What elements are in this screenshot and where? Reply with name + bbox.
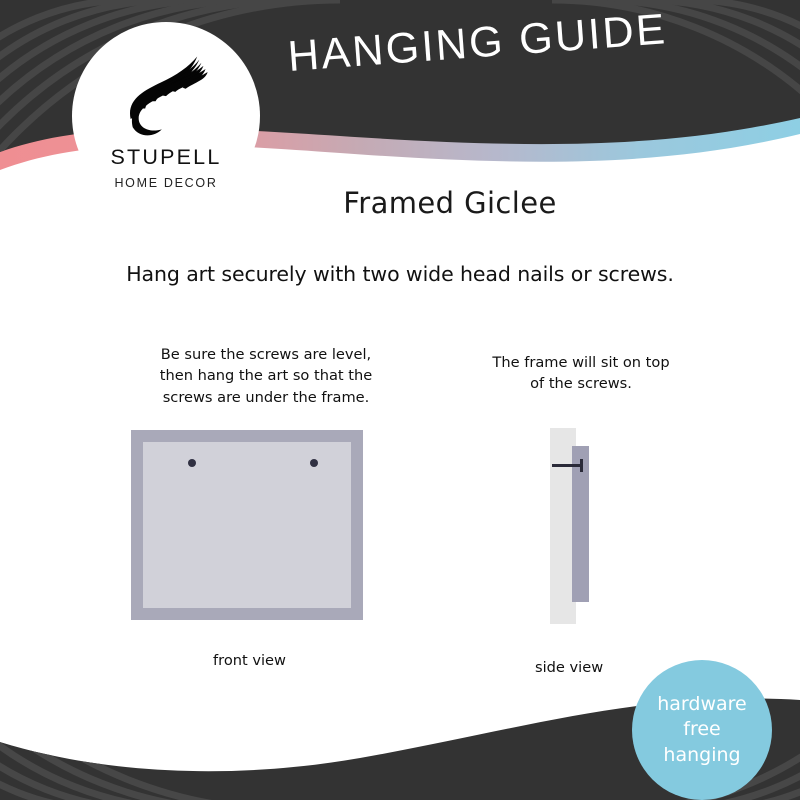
main-instruction-text: Hang art securely with two wide head nai…: [0, 262, 800, 286]
badge-line-2: free: [683, 717, 720, 742]
badge-line-1: hardware: [657, 692, 747, 717]
front-view-diagram: [131, 430, 363, 620]
front-view-label: front view: [213, 652, 286, 669]
hardware-free-hanging-badge: hardware free hanging: [632, 660, 772, 800]
front-view-instruction-block: Be sure the screws are level, then hang …: [118, 344, 414, 408]
hanging-guide-page: STUPELL HOME DECOR HANGING GUIDE Framed …: [0, 0, 800, 800]
front-view-instruction-text: Be sure the screws are level, then hang …: [118, 344, 414, 408]
screw-dot-right: [310, 459, 318, 467]
screw-head-icon: [580, 459, 583, 472]
stupell-swoosh-icon: [114, 42, 218, 146]
side-view-diagram: [538, 428, 638, 624]
brand-subtitle: HOME DECOR: [114, 177, 217, 190]
screw-shaft-icon: [552, 464, 582, 467]
side-view-instruction-block: The frame will sit on top of the screws.: [438, 352, 724, 395]
frame-border: [131, 430, 363, 620]
side-view-instruction-text: The frame will sit on top of the screws.: [438, 352, 724, 395]
page-title: HANGING GUIDE: [286, 5, 669, 82]
brand-logo-badge: STUPELL HOME DECOR: [72, 22, 260, 210]
side-view-label: side view: [535, 659, 603, 676]
frame-artwork-area: [143, 442, 351, 608]
badge-line-3: hanging: [663, 743, 740, 768]
brand-name: STUPELL: [111, 147, 222, 169]
screw-dot-left: [188, 459, 196, 467]
